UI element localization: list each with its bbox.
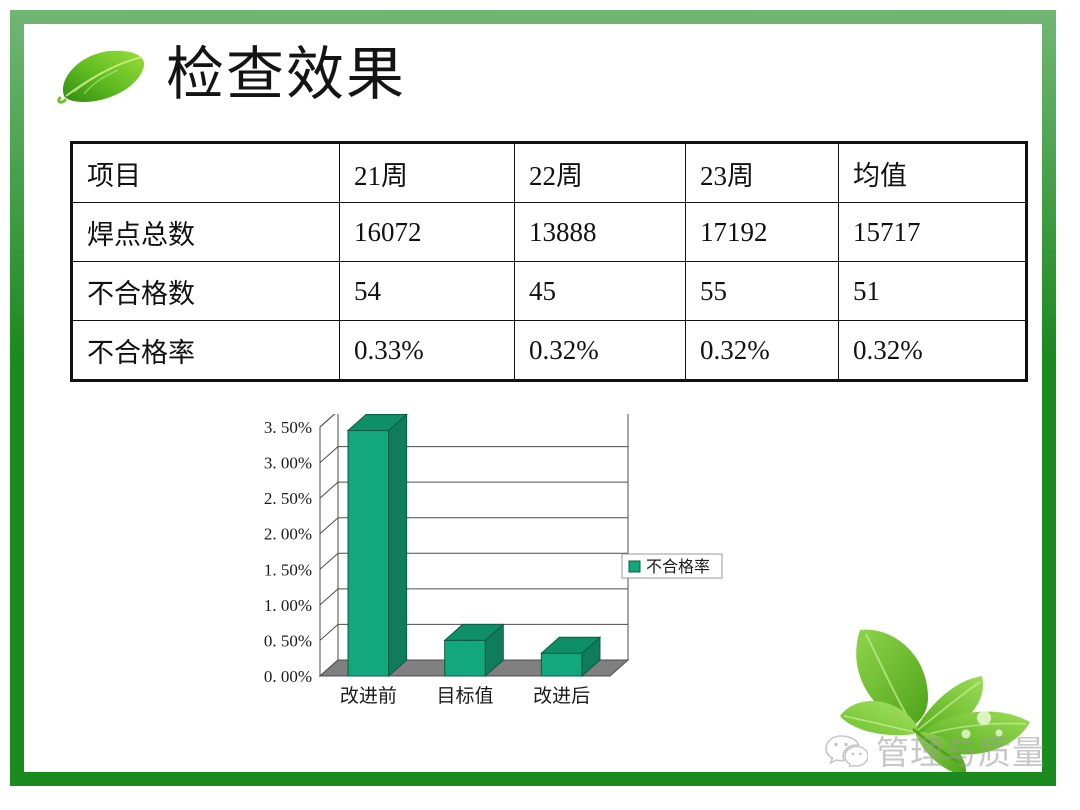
chart-bar-1 <box>445 624 504 676</box>
row-2-cell-3: 0.32% <box>839 321 1027 381</box>
table-header-cell-1: 21周 <box>340 143 515 203</box>
chart-legend: 不合格率 <box>622 554 722 578</box>
row-0-cell-1: 13888 <box>515 203 686 262</box>
chart-bar-0 <box>348 415 407 676</box>
chart-y-tick-1: 0. 50% <box>264 631 312 650</box>
row-0-cell-2: 17192 <box>686 203 839 262</box>
row-label-0: 焊点总数 <box>72 203 340 262</box>
chart-x-axis-category-labels: 改进前目标值改进后 <box>340 685 590 707</box>
chart-y-tick-7: 3. 50% <box>264 418 312 437</box>
row-1-cell-1: 45 <box>515 262 686 321</box>
chart-y-tick-2: 1. 00% <box>264 596 312 615</box>
leaf-cluster-icon <box>816 606 1056 786</box>
slide-title-row: 检查效果 <box>52 44 406 106</box>
chart-y-tick-5: 2. 50% <box>264 489 312 508</box>
row-0-cell-0: 16072 <box>340 203 515 262</box>
chart-legend-label-0: 不合格率 <box>646 558 710 576</box>
row-1-cell-0: 54 <box>340 262 515 321</box>
chart-y-tick-0: 0. 00% <box>264 667 312 686</box>
row-label-2: 不合格率 <box>72 321 340 381</box>
watermark: 管理与质量 <box>824 726 1046 774</box>
chart-y-axis-tick-labels: 0. 00%0. 50%1. 00%1. 50%2. 00%2. 50%3. 0… <box>264 418 312 686</box>
table-header-cell-2: 22周 <box>515 143 686 203</box>
table-header-cell-4: 均值 <box>839 143 1027 203</box>
table-header-row: 项目 21周 22周 23周 均值 <box>72 143 1027 203</box>
wechat-icon <box>824 733 868 767</box>
row-1-cell-3: 51 <box>839 262 1027 321</box>
results-table: 项目 21周 22周 23周 均值 焊点总数 16072 13888 17192… <box>70 141 1028 382</box>
table-header-cell-0: 项目 <box>72 143 340 203</box>
chart-y-tick-3: 1. 50% <box>264 560 312 579</box>
chart-svg: 0. 00%0. 50%1. 00%1. 50%2. 00%2. 50%3. 0… <box>246 414 746 710</box>
watermark-text: 管理与质量 <box>876 726 1046 774</box>
row-2-cell-2: 0.32% <box>686 321 839 381</box>
chart-y-tick-6: 3. 00% <box>264 454 312 473</box>
chart-y-tick-4: 2. 00% <box>264 525 312 544</box>
row-2-cell-1: 0.32% <box>515 321 686 381</box>
page-title: 检查效果 <box>166 46 406 104</box>
table-row: 不合格率 0.33% 0.32% 0.32% 0.32% <box>72 321 1027 381</box>
table-header-cell-3: 23周 <box>686 143 839 203</box>
chart-category-1: 目标值 <box>436 685 493 707</box>
row-label-1: 不合格数 <box>72 262 340 321</box>
row-1-cell-2: 55 <box>686 262 839 321</box>
table-row: 焊点总数 16072 13888 17192 15717 <box>72 203 1027 262</box>
table-row: 不合格数 54 45 55 51 <box>72 262 1027 321</box>
chart-category-0: 改进前 <box>340 685 397 707</box>
row-2-cell-0: 0.33% <box>340 321 515 381</box>
row-0-cell-3: 15717 <box>839 203 1027 262</box>
leaf-icon <box>52 44 148 106</box>
slide-canvas: 检查效果 项目 21周 22周 23周 均值 焊点总数 16072 13888 … <box>0 0 1080 810</box>
defect-rate-chart: 0. 00%0. 50%1. 00%1. 50%2. 00%2. 50%3. 0… <box>246 414 746 710</box>
chart-category-2: 改进后 <box>533 685 590 707</box>
